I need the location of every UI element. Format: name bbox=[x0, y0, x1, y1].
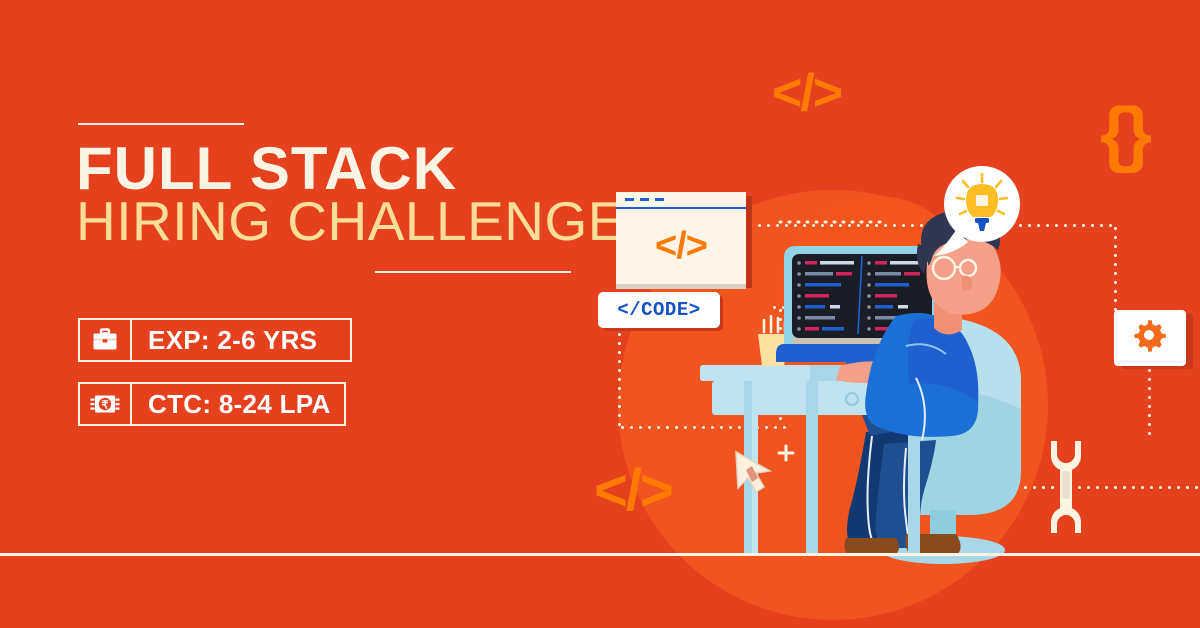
browser-dash-icon bbox=[655, 198, 664, 201]
gear-card bbox=[1114, 310, 1186, 366]
browser-window: </> bbox=[616, 192, 746, 284]
browser-dash-icon bbox=[640, 198, 649, 201]
code-badge: </CODE> bbox=[598, 292, 720, 328]
browser-title-bar bbox=[616, 192, 746, 209]
browser-dash-icon bbox=[625, 198, 634, 201]
wrench-icon bbox=[1047, 437, 1085, 538]
plus-icon bbox=[779, 446, 793, 460]
browser-code-glyph: </> bbox=[616, 209, 746, 284]
browser-window-base bbox=[616, 284, 746, 289]
hiring-challenge-banner: FULL STACK HIRING CHALLENGE EXP: 2-6 YRS… bbox=[0, 0, 1200, 628]
gear-icon bbox=[1133, 319, 1167, 358]
bottom-divider bbox=[0, 553, 1200, 556]
